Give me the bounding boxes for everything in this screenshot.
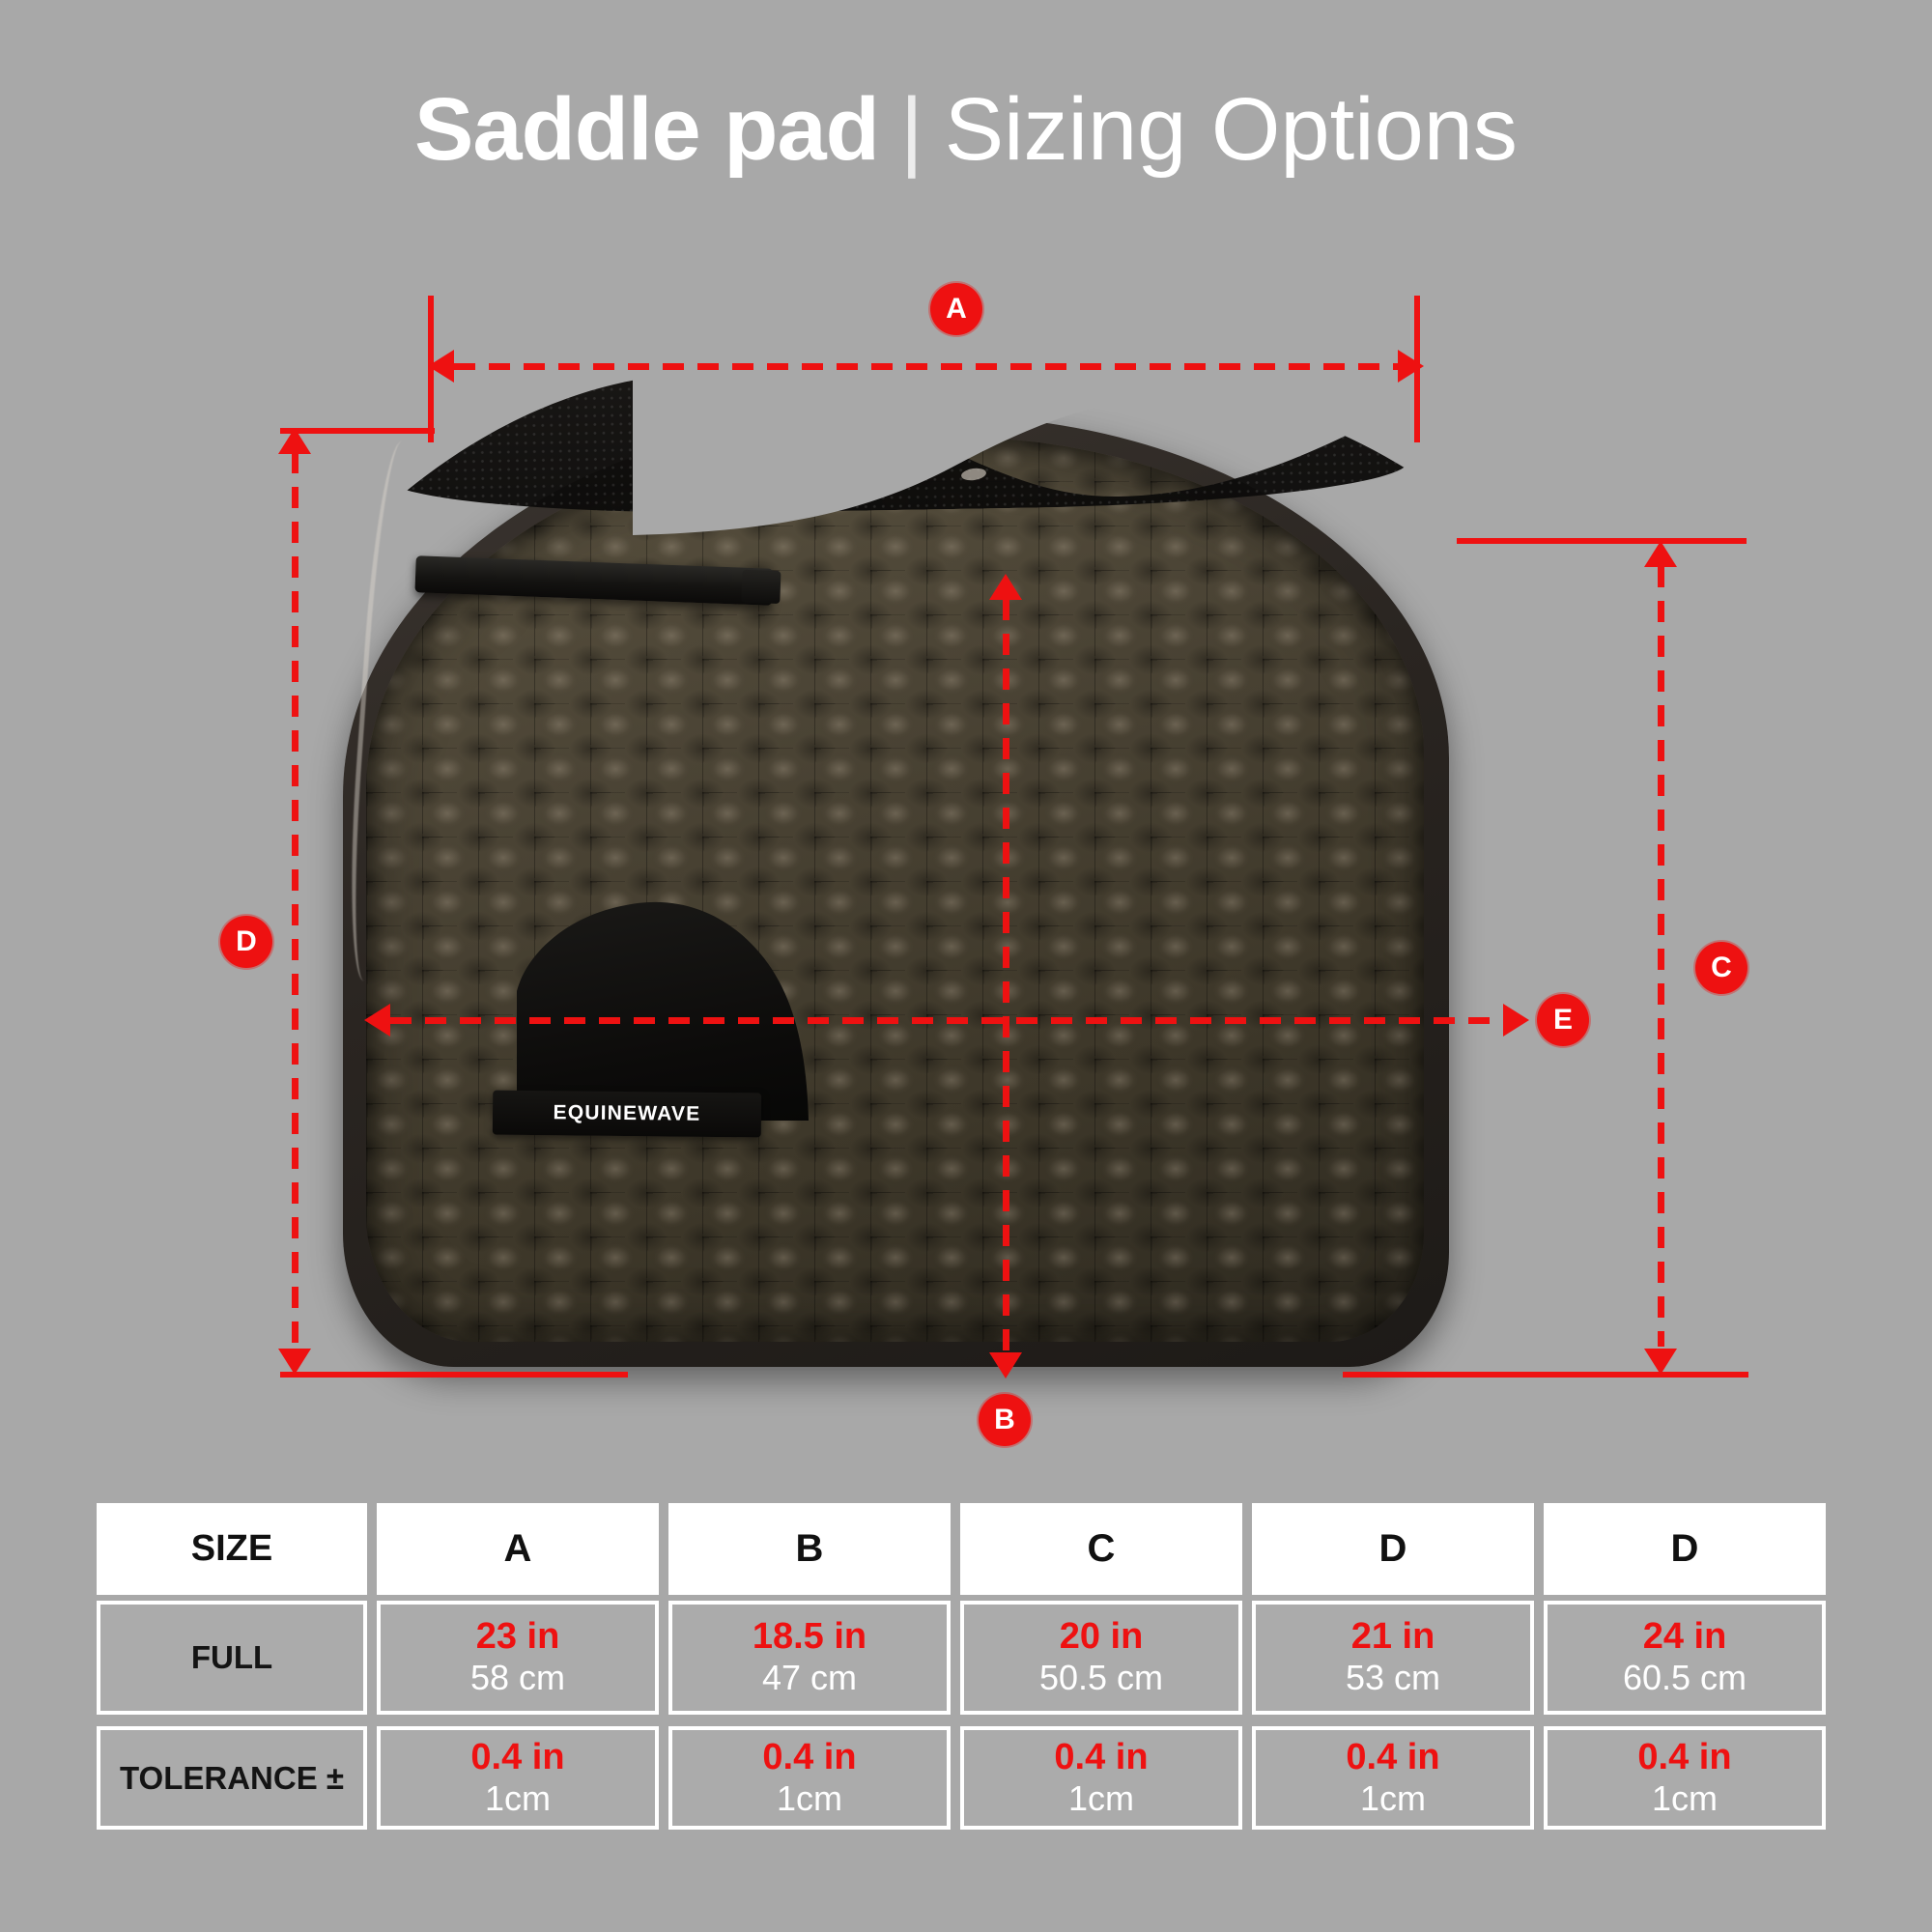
table-header-size: SIZE bbox=[97, 1503, 367, 1595]
value-cm: 1cm bbox=[485, 1778, 551, 1819]
dimension-c-arrow-down bbox=[1644, 1349, 1677, 1375]
brand-label-text: EQUINEWAVE bbox=[553, 1101, 700, 1126]
value-cm: 53 cm bbox=[1346, 1658, 1440, 1698]
value-inches: 18.5 in bbox=[753, 1616, 867, 1658]
dimension-e-measure-line bbox=[390, 1017, 1503, 1024]
value-inches: 24 in bbox=[1643, 1616, 1727, 1658]
table-header-d1: D bbox=[1252, 1503, 1534, 1595]
dimension-c-bottom-extension bbox=[1343, 1372, 1748, 1378]
brand-label-tab: EQUINEWAVE bbox=[493, 1091, 761, 1138]
value-cm: 1cm bbox=[1652, 1778, 1718, 1819]
value-inches: 20 in bbox=[1060, 1616, 1144, 1658]
table-cell-tolerance-c: 0.4 in 1cm bbox=[960, 1726, 1242, 1830]
dimension-d-bottom-extension bbox=[280, 1372, 628, 1378]
value-inches: 0.4 in bbox=[762, 1737, 856, 1778]
dimension-e-arrow-right bbox=[1503, 1004, 1529, 1037]
product-image: EQUINEWAVE bbox=[343, 415, 1449, 1367]
table-cell-full-d1: 21 in 53 cm bbox=[1252, 1601, 1534, 1715]
dimension-e-arrow-left bbox=[364, 1004, 390, 1037]
page-title-light: Sizing Options bbox=[945, 80, 1518, 179]
dimension-badge-c: C bbox=[1695, 942, 1747, 994]
value-cm: 1cm bbox=[777, 1778, 842, 1819]
dimension-a-arrow-right bbox=[1398, 350, 1424, 383]
value-inches: 0.4 in bbox=[1054, 1737, 1148, 1778]
dimension-b-arrow-down bbox=[989, 1352, 1022, 1378]
value-cm: 47 cm bbox=[762, 1658, 857, 1698]
value-inches: 23 in bbox=[476, 1616, 560, 1658]
sizing-chart-page: Saddle pad|Sizing Options EQUINEWAVE A D bbox=[0, 0, 1932, 1932]
dimension-b-arrow-up bbox=[989, 574, 1022, 600]
table-row-label-tolerance: TOLERANCE ± bbox=[97, 1726, 367, 1830]
dimension-b-measure-line bbox=[1003, 599, 1009, 1357]
value-cm: 60.5 cm bbox=[1623, 1658, 1747, 1698]
value-cm: 58 cm bbox=[470, 1658, 565, 1698]
table-cell-tolerance-d2: 0.4 in 1cm bbox=[1544, 1726, 1826, 1830]
dimension-badge-e: E bbox=[1537, 994, 1589, 1046]
table-cell-full-c: 20 in 50.5 cm bbox=[960, 1601, 1242, 1715]
value-cm: 50.5 cm bbox=[1039, 1658, 1163, 1698]
table-header-b: B bbox=[668, 1503, 951, 1595]
dimension-d-arrow-up bbox=[278, 428, 311, 454]
page-title: Saddle pad|Sizing Options bbox=[0, 85, 1932, 174]
dimension-c-measure-line bbox=[1658, 566, 1664, 1347]
dimension-d-arrow-down bbox=[278, 1349, 311, 1375]
table-cell-tolerance-a: 0.4 in 1cm bbox=[377, 1726, 659, 1830]
dimension-badge-a: A bbox=[930, 283, 982, 335]
dimension-c-top-extension bbox=[1457, 538, 1747, 544]
value-inches: 21 in bbox=[1351, 1616, 1435, 1658]
value-inches: 0.4 in bbox=[1637, 1737, 1731, 1778]
table-row-label-full: FULL bbox=[97, 1601, 367, 1715]
value-cm: 1cm bbox=[1360, 1778, 1426, 1819]
dimension-a-measure-line bbox=[454, 363, 1398, 370]
table-header-d2: D bbox=[1544, 1503, 1826, 1595]
dimension-badge-b: B bbox=[979, 1394, 1031, 1446]
value-inches: 0.4 in bbox=[470, 1737, 564, 1778]
value-cm: 1cm bbox=[1068, 1778, 1134, 1819]
dimension-a-arrow-left bbox=[428, 350, 454, 383]
table-cell-tolerance-d1: 0.4 in 1cm bbox=[1252, 1726, 1534, 1830]
dimension-badge-d: D bbox=[220, 916, 272, 968]
table-cell-full-a: 23 in 58 cm bbox=[377, 1601, 659, 1715]
table-cell-full-b: 18.5 in 47 cm bbox=[668, 1601, 951, 1715]
page-title-separator: | bbox=[900, 80, 923, 179]
dimension-d-measure-line bbox=[292, 452, 298, 1349]
table-cell-full-d2: 24 in 60.5 cm bbox=[1544, 1601, 1826, 1715]
dimension-c-arrow-up bbox=[1644, 541, 1677, 567]
table-header-a: A bbox=[377, 1503, 659, 1595]
size-table: SIZE A B C D D FULL 23 in 58 cm 18.5 in … bbox=[97, 1503, 1835, 1835]
table-cell-tolerance-b: 0.4 in 1cm bbox=[668, 1726, 951, 1830]
page-title-bold: Saddle pad bbox=[414, 80, 879, 179]
value-inches: 0.4 in bbox=[1346, 1737, 1439, 1778]
table-header-c: C bbox=[960, 1503, 1242, 1595]
